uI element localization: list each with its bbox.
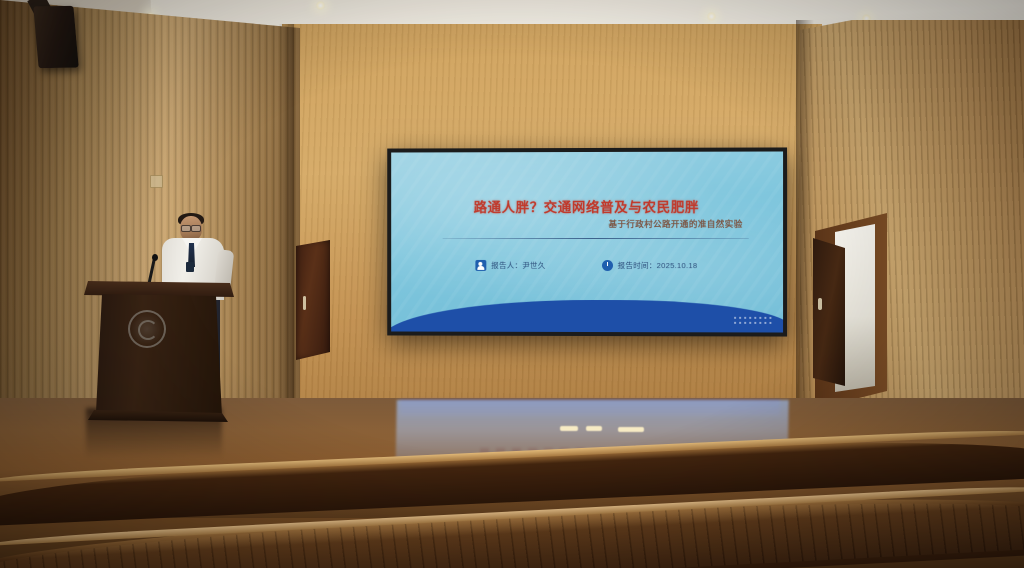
door-right[interactable] [813,238,845,386]
glasses-icon [181,225,201,230]
slide-meta-row: 报告人：尹世久 报告时间：2025.10.18 [391,260,783,271]
left-corner-shadow [278,24,294,424]
wall-socket-icon [150,175,163,188]
slide-title: 路通人胖？交通网络普及与农民肥胖 [391,196,783,216]
door-left[interactable] [296,240,330,360]
podium-body [96,294,222,416]
podium-emblem-icon [128,310,166,348]
ceiling-spot-light [316,1,325,10]
slide-dot-pattern [733,315,773,325]
right-corner-shadow [796,20,814,440]
reflected-light-icons [560,426,700,432]
person-icon [475,260,486,271]
presenter-badge [186,262,194,272]
slide-datetime-label: 报告时间：2025.10.18 [618,260,698,271]
led-display-screen[interactable]: 路通人胖？交通网络普及与农民肥胖 基于行政村公路开通的准自然实验 报告人：尹世久… [387,147,787,336]
ceiling-spot-light [707,12,716,21]
slide-datetime-meta: 报告时间：2025.10.18 [602,260,698,271]
presentation-slide: 路通人胖？交通网络普及与农民肥胖 基于行政村公路开通的准自然实验 报告人：尹世久… [391,151,783,332]
clock-icon [602,260,613,271]
door-left-handle[interactable] [303,296,306,310]
slide-subtitle: 基于行政村公路开通的准自然实验 [608,218,742,230]
door-right-handle[interactable] [818,298,822,310]
wall-speaker-icon [33,6,78,68]
microphone-icon [152,254,158,261]
slide-divider-rule [443,238,749,239]
slide-presenter-label: 报告人：尹世久 [491,260,545,271]
lecture-hall-photo: 路通人胖？交通网络普及与农民肥胖 基于行政村公路开通的准自然实验 报告人：尹世久… [0,0,1024,568]
slide-presenter-meta: 报告人：尹世久 [475,260,545,271]
